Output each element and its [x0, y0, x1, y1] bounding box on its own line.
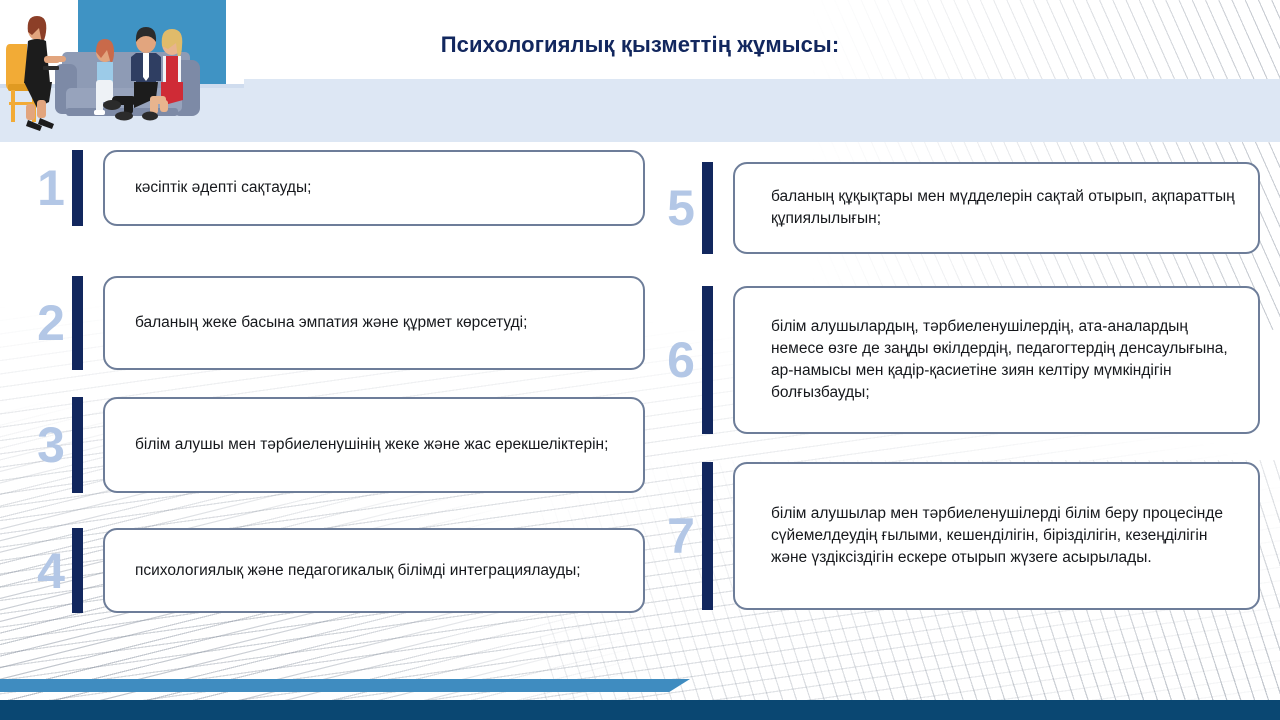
item-accent-bar — [702, 286, 713, 434]
item-box[interactable]: кәсіптік әдепті сақтауды; — [103, 150, 645, 226]
list-item: 5 баланың құқықтары мен мүдделерін сақта… — [660, 162, 1260, 254]
item-accent-bar — [72, 150, 83, 226]
item-number: 3 — [30, 397, 72, 493]
footer-bar — [0, 700, 1280, 720]
item-accent-bar — [702, 462, 713, 610]
item-accent-bar — [702, 162, 713, 254]
item-text: кәсіптік әдепті сақтауды; — [135, 177, 311, 199]
item-number: 5 — [660, 162, 702, 254]
item-box[interactable]: білім алушы мен тәрбиеленушінің жеке жән… — [103, 397, 645, 493]
list-item: 3 білім алушы мен тәрбиеленушінің жеке ж… — [30, 397, 645, 493]
footer-accent-stripe — [0, 679, 690, 692]
list-item: 2 баланың жеке басына эмпатия және құрме… — [30, 276, 645, 370]
item-number: 2 — [30, 276, 72, 370]
list-item: 1 кәсіптік әдепті сақтауды; — [30, 150, 645, 226]
psychologist-family-counseling-illustration — [0, 0, 244, 142]
item-accent-bar — [72, 276, 83, 370]
item-text: психологиялық және педагогикалық білімді… — [135, 560, 581, 582]
item-accent-bar — [72, 528, 83, 613]
item-box[interactable]: білім алушылардың, тәрбиеленушілердің, а… — [733, 286, 1260, 434]
item-number: 6 — [660, 286, 702, 434]
item-box[interactable]: баланың құқықтары мен мүдделерін сақтай … — [733, 162, 1260, 254]
item-text: білім алушылардың, тәрбиеленушілердің, а… — [771, 316, 1240, 404]
item-text: білім алушылар мен тәрбиеленушілерді біл… — [771, 503, 1240, 569]
item-accent-bar — [72, 397, 83, 493]
list-item: 6 білім алушылардың, тәрбиеленушілердің,… — [660, 286, 1260, 434]
item-number: 1 — [30, 150, 72, 226]
item-number: 7 — [660, 462, 702, 610]
item-number: 4 — [30, 528, 72, 613]
item-text: білім алушы мен тәрбиеленушінің жеке жән… — [135, 434, 608, 456]
item-box[interactable]: психологиялық және педагогикалық білімді… — [103, 528, 645, 613]
list-item: 7 білім алушылар мен тәрбиеленушілерді б… — [660, 462, 1260, 610]
item-text: баланың жеке басына эмпатия және құрмет … — [135, 312, 527, 334]
item-box[interactable]: баланың жеке басына эмпатия және құрмет … — [103, 276, 645, 370]
list-item: 4 психологиялық және педагогикалық білім… — [30, 528, 645, 613]
slide: Психологиялық қызметтің жұмысы: — [0, 0, 1280, 720]
item-box[interactable]: білім алушылар мен тәрбиеленушілерді біл… — [733, 462, 1260, 610]
page-title: Психологиялық қызметтің жұмысы: — [0, 32, 1280, 58]
item-text: баланың құқықтары мен мүдделерін сақтай … — [771, 186, 1240, 230]
